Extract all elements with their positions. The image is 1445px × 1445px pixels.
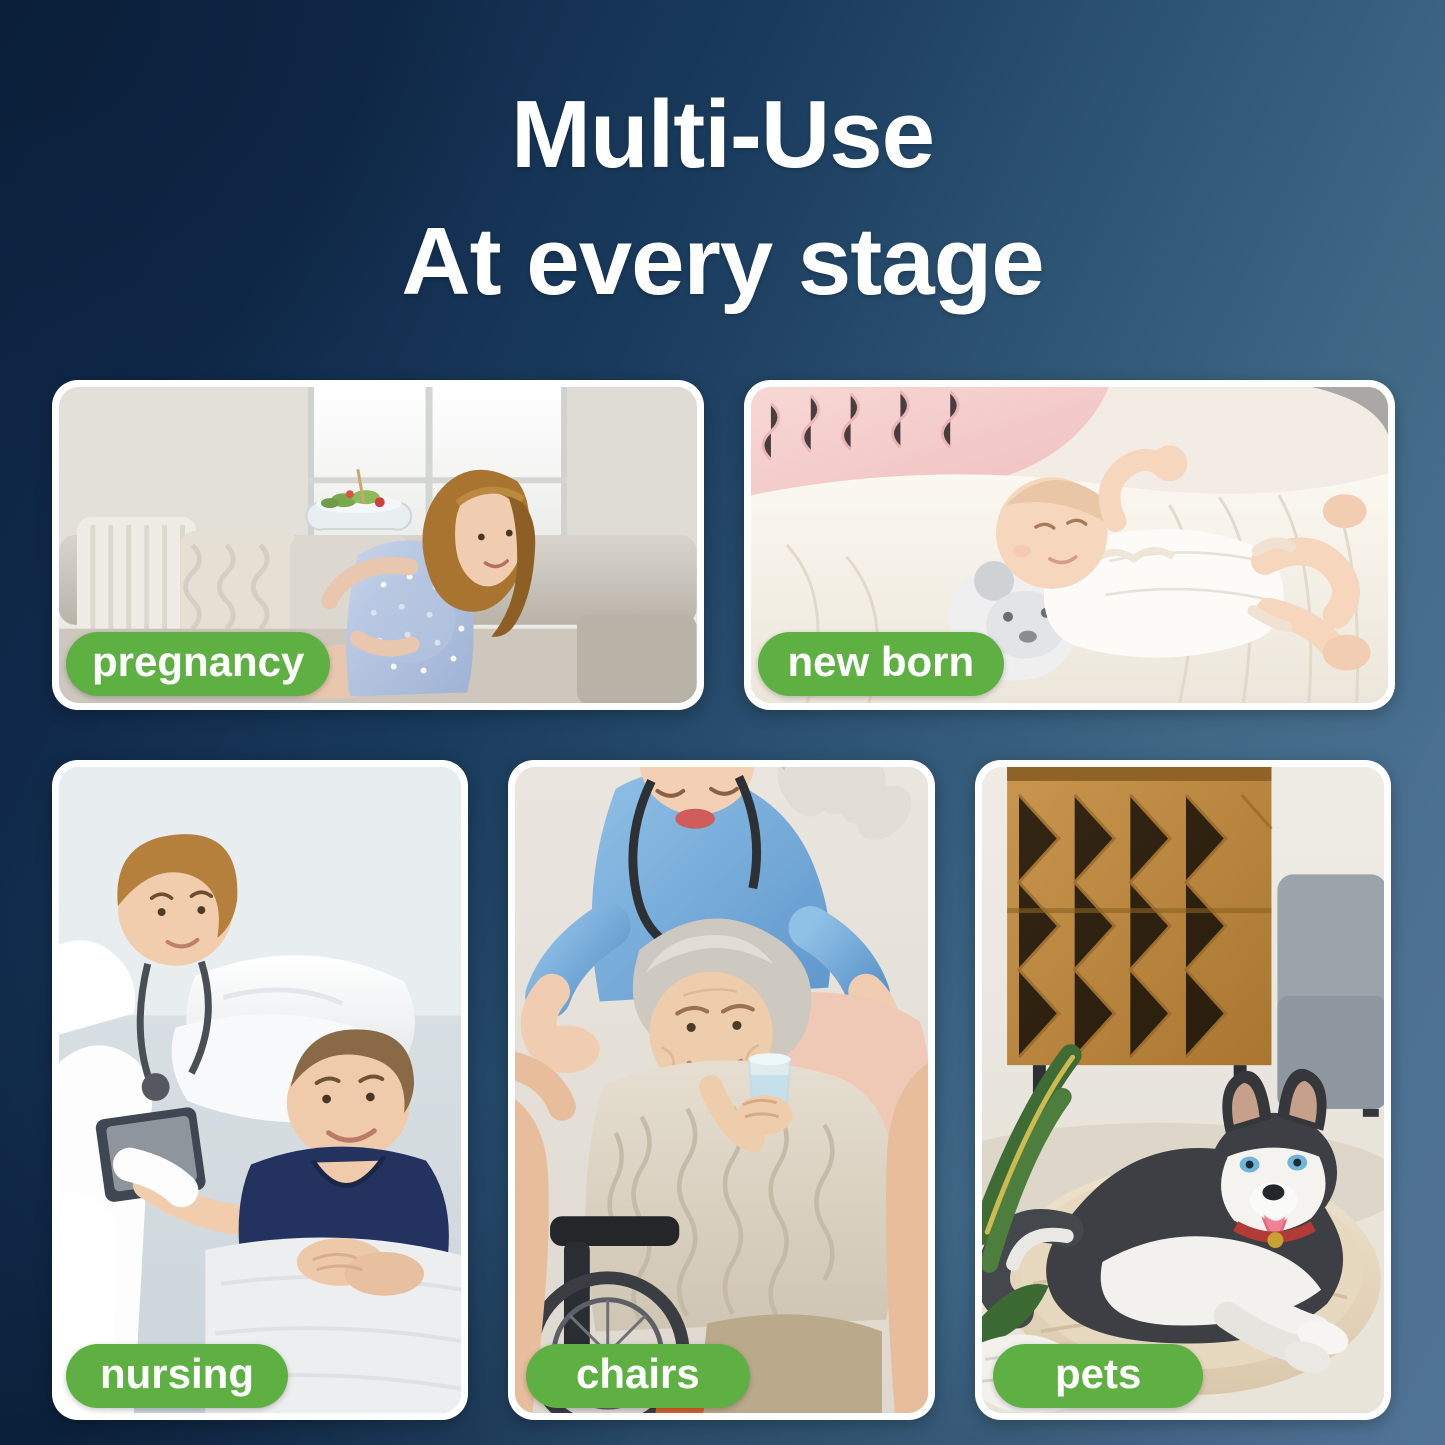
badge-chairs[interactable]: chairs [526, 1344, 750, 1408]
photo-nursing [59, 767, 461, 1413]
card-row-top: pregnancy [52, 380, 1395, 710]
page-title: Multi-Use At every stage [0, 72, 1445, 325]
card-chairs[interactable]: chairs [508, 760, 935, 1420]
card-pregnancy[interactable]: pregnancy [52, 380, 704, 710]
badge-new-born[interactable]: new born [758, 632, 1005, 696]
chairs-illustration [515, 767, 928, 1413]
photo-chairs [515, 767, 928, 1413]
card-pets[interactable]: pets [975, 760, 1391, 1420]
badge-pregnancy[interactable]: pregnancy [66, 632, 330, 696]
badge-nursing[interactable]: nursing [66, 1344, 288, 1408]
poster-canvas: Multi-Use At every stage [0, 0, 1445, 1445]
headline-line-2: At every stage [0, 199, 1445, 326]
headline-line-1: Multi-Use [0, 72, 1445, 199]
photo-pets [982, 767, 1384, 1413]
pets-illustration [982, 767, 1384, 1413]
badge-pets[interactable]: pets [993, 1344, 1203, 1408]
card-row-bottom: nursing [52, 760, 1395, 1420]
card-new-born[interactable]: new born [744, 380, 1396, 710]
nursing-illustration [59, 767, 461, 1413]
card-nursing[interactable]: nursing [52, 760, 468, 1420]
